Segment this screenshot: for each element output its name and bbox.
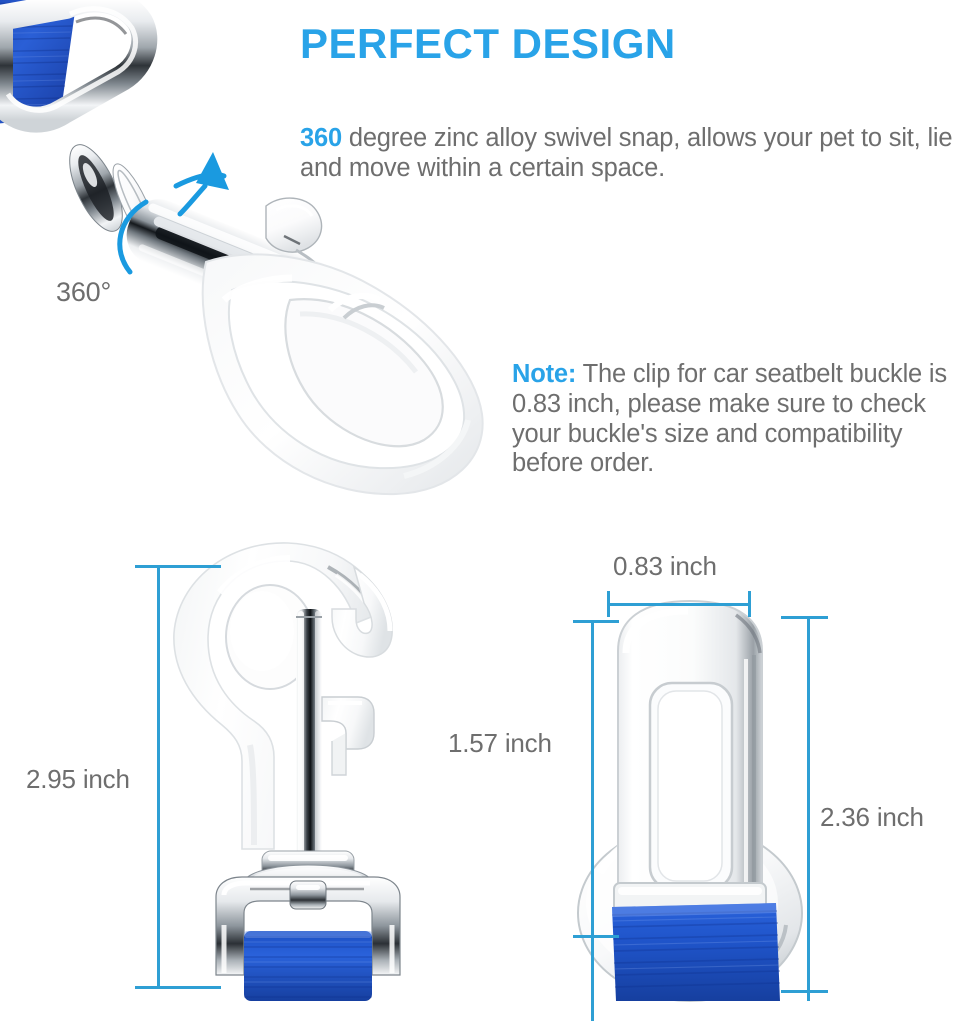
- dimension-label-295: 2.95 inch: [26, 764, 130, 795]
- dim-tick-bottom-236: [781, 990, 828, 993]
- blue-webbing-clip: [612, 903, 780, 1001]
- swivel-snap-hook-closeup-photo: [0, 0, 520, 520]
- dimension-label-083: 0.83 inch: [613, 551, 717, 582]
- dim-tick-left-083: [607, 591, 610, 617]
- dim-line-vertical-295: [157, 566, 160, 988]
- dim-tick-top-157: [573, 620, 619, 623]
- feature-360-highlight: 360: [300, 124, 342, 152]
- blue-webbing-bottom: [244, 931, 372, 1001]
- clip-tongue-blade: [618, 601, 762, 901]
- note-paragraph: Note: The clip for car seatbelt buckle i…: [512, 360, 979, 479]
- infographic-canvas: PERFECT DESIGN 360 degree zinc alloy swi…: [0, 0, 979, 1001]
- dim-tick-right-083: [748, 591, 751, 617]
- dimension-label-236: 2.36 inch: [820, 802, 924, 833]
- snap-hook-body: [203, 254, 483, 494]
- dimension-label-157: 1.57 inch: [448, 728, 552, 759]
- page-title: PERFECT DESIGN: [300, 20, 720, 68]
- dim-tick-top-295: [135, 565, 221, 568]
- note-label: Note:: [512, 360, 576, 388]
- note-text: The clip for car seatbelt buckle is 0.83…: [512, 360, 947, 477]
- dim-tick-bottom-295: [135, 986, 221, 989]
- snap-hook-with-blue-webbing-photo: [150, 545, 480, 1001]
- seatbelt-buckle-clip-with-blue-webbing-photo: [540, 595, 840, 1001]
- dim-tick-bottom-157: [573, 935, 619, 938]
- dim-line-vertical-236: [807, 618, 810, 1001]
- snap-gate-pin: [296, 609, 322, 859]
- dim-line-vertical-157: [591, 621, 594, 1021]
- dim-tick-top-236: [781, 616, 828, 619]
- feature-360-paragraph: 360 degree zinc alloy swivel snap, allow…: [300, 124, 960, 184]
- feature-360-text: degree zinc alloy swivel snap, allows yo…: [300, 124, 952, 182]
- snap-hook-head: [174, 543, 386, 849]
- rotation-degree-label: 360°: [56, 277, 111, 308]
- dim-line-horizontal-083: [608, 603, 751, 606]
- gate-latch-tab: [322, 697, 374, 775]
